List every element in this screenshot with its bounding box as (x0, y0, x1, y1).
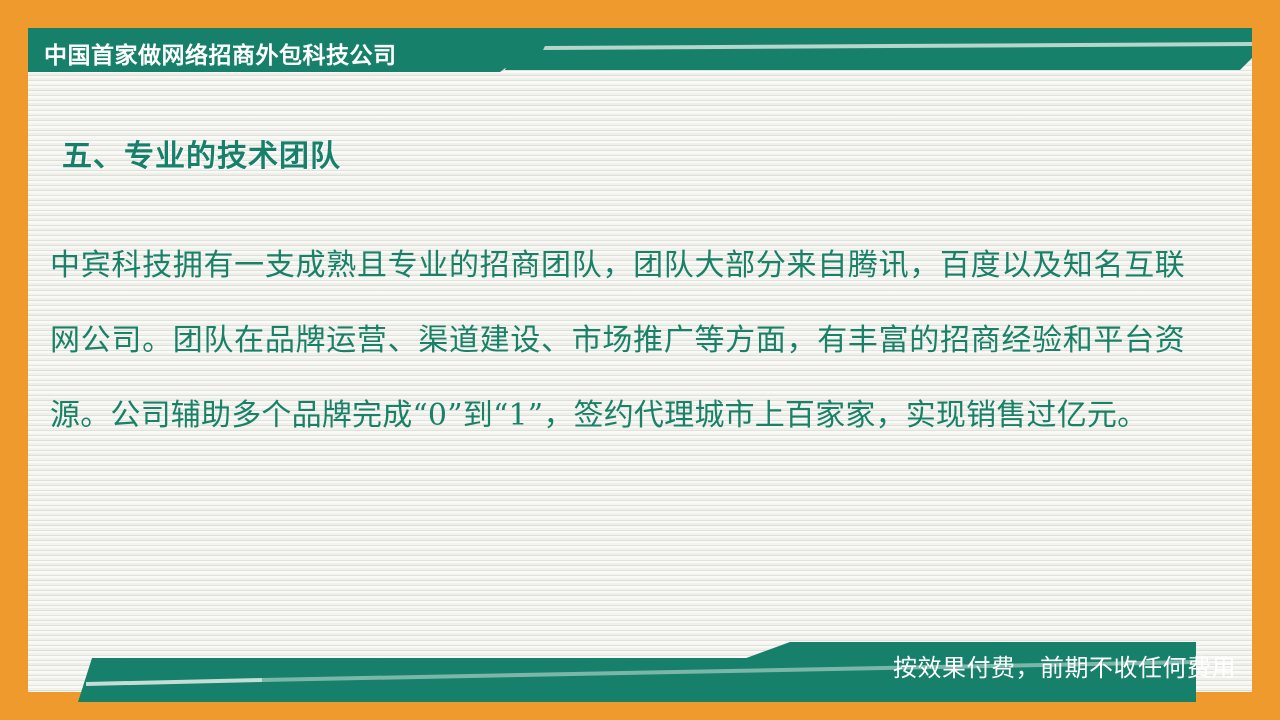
body-paragraph: 中宾科技拥有一支成熟且专业的招商团队，团队大部分来自腾讯，百度以及知名互联网公司… (50, 228, 1185, 453)
footer-orange-left (0, 620, 28, 720)
footer-orange-right (1252, 620, 1280, 720)
footer-orange-base (0, 702, 1280, 720)
page-title: 五、专业的技术团队 (62, 131, 341, 175)
slide-root: 中国首家做网络招商外包科技公司 五、专业的技术团队 中宾科技拥有一支成熟且专业的… (0, 0, 1280, 720)
